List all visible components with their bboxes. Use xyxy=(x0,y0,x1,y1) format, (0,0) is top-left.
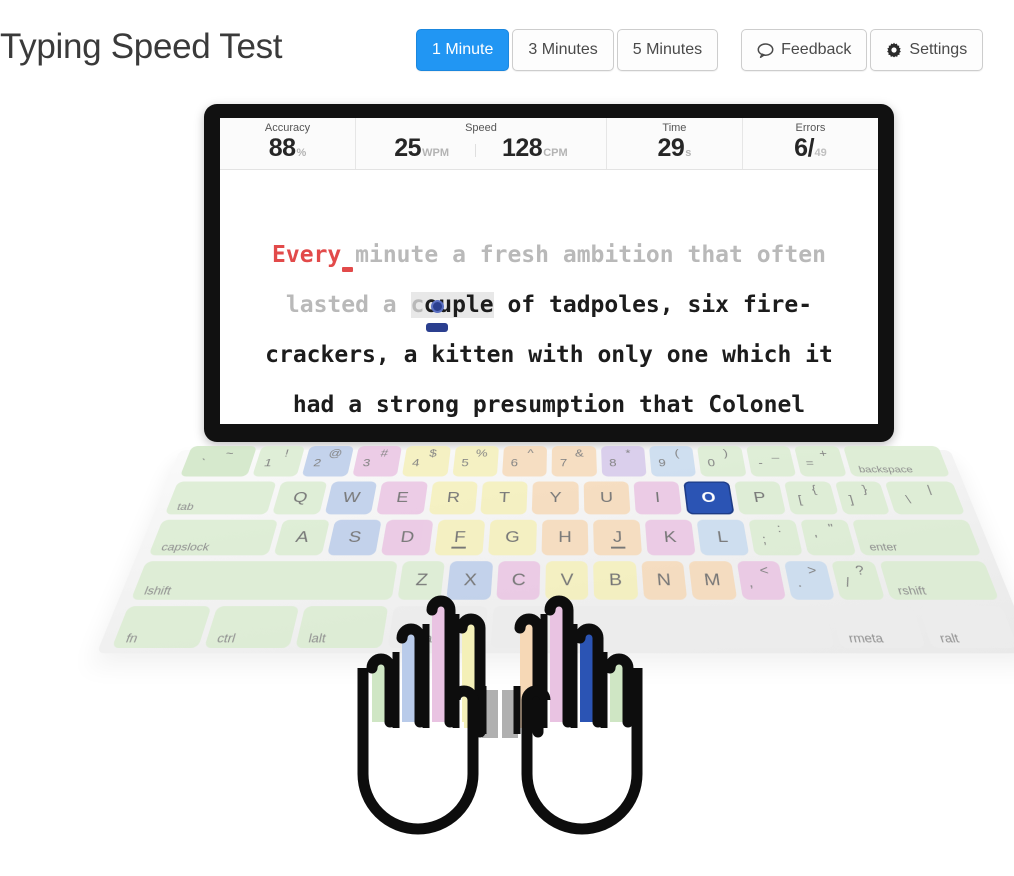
key-minus[interactable]: -_ xyxy=(746,446,797,476)
key-lshift-label: lshift xyxy=(142,585,173,597)
stat-accuracy-unit: % xyxy=(297,140,307,166)
key-0-primary: 0 xyxy=(707,457,716,469)
typing-line-2: lasted a couple of tadpoles, six fire- xyxy=(238,280,860,330)
stat-accuracy-values: 88 % xyxy=(269,135,307,166)
typed-error-word: Every xyxy=(272,242,341,268)
feedback-button[interactable]: Feedback xyxy=(741,29,867,71)
stats-bar: Accuracy 88 % Speed 25 WPM 128 CPM xyxy=(220,118,878,170)
key-E[interactable]: E xyxy=(376,481,427,514)
stat-accuracy: Accuracy 88 % xyxy=(220,118,356,169)
stat-errors-total: 49 xyxy=(815,140,827,166)
key-semicolon-primary: ; xyxy=(761,532,768,546)
key-fn-label: fn xyxy=(124,632,140,646)
key-P[interactable]: P xyxy=(734,481,786,514)
stat-time-value: 29 xyxy=(657,135,684,161)
key-F-home-marker xyxy=(452,547,467,549)
stat-speed-divider xyxy=(475,144,476,157)
key-7-primary: 7 xyxy=(560,457,567,469)
keyboard-row-number-row: `~1!2@3#4$5%6^7&8*9(0)-_=+backspace xyxy=(167,446,962,476)
key-2[interactable]: 2@ xyxy=(302,446,354,476)
duration-label-2: 3 Minutes xyxy=(528,41,597,59)
duration-button-5-minutes[interactable]: 5 Minutes xyxy=(617,29,718,71)
key-1-secondary: ! xyxy=(283,447,290,459)
key-Q-label: Q xyxy=(291,489,310,506)
stat-errors-values: 6 / 49 xyxy=(794,135,827,166)
key-0-secondary: ) xyxy=(722,447,728,459)
key-J[interactable]: J xyxy=(594,520,643,556)
key-quote[interactable]: '" xyxy=(800,520,856,556)
key-N[interactable]: N xyxy=(641,561,687,600)
stat-accuracy-label: Accuracy xyxy=(265,122,310,135)
key-2-primary: 2 xyxy=(312,457,322,469)
app-header: Typing Speed Test 1 Minute 3 Minutes 5 M… xyxy=(0,0,1014,86)
key-ralt[interactable]: ralt xyxy=(919,606,1014,648)
current-word: couple xyxy=(411,292,494,318)
typed-done-line2: lasted a xyxy=(286,292,411,318)
key-E-label: E xyxy=(395,489,410,506)
typing-text-area[interactable]: Every minute a fresh ambition that often… xyxy=(220,170,878,424)
key-3-secondary: # xyxy=(380,447,390,459)
key-T[interactable]: T xyxy=(480,481,528,514)
key-minus-primary: - xyxy=(757,457,764,469)
left-hand xyxy=(363,600,498,829)
key-S-label: S xyxy=(347,528,363,547)
key-equal-primary: = xyxy=(804,457,815,469)
key-enter[interactable]: enter xyxy=(852,520,982,556)
key-backslash-primary: \ xyxy=(904,493,912,506)
stat-time-unit: s xyxy=(685,140,691,166)
key-K[interactable]: K xyxy=(645,520,696,556)
key-A[interactable]: A xyxy=(274,520,330,556)
key-enter-label: enter xyxy=(868,542,899,553)
key-rbracket-primary: ] xyxy=(848,493,856,506)
duration-label-3: 5 Minutes xyxy=(633,41,702,59)
key-comma-primary: , xyxy=(747,575,754,590)
key-tab-label: tab xyxy=(175,502,195,513)
key-6-primary: 6 xyxy=(510,457,518,469)
key-W-label: W xyxy=(341,489,362,506)
stat-speed-cpm-unit: CPM xyxy=(543,140,567,166)
caret-dot-icon xyxy=(431,300,444,313)
gear-icon xyxy=(886,42,902,58)
key-equal-secondary: + xyxy=(818,447,829,459)
stat-time-values: 29 s xyxy=(657,135,691,166)
key-G[interactable]: G xyxy=(488,520,537,556)
key-J-label: J xyxy=(612,528,622,547)
key-6[interactable]: 6^ xyxy=(502,446,547,476)
key-slash-secondary: ? xyxy=(854,563,866,578)
key-rshift-label: rshift xyxy=(896,585,928,597)
header-controls: 1 Minute 3 Minutes 5 Minutes xyxy=(416,29,983,71)
key-R-label: R xyxy=(446,489,461,506)
stat-speed: Speed 25 WPM 128 CPM xyxy=(356,118,607,169)
key-quote-primary: ' xyxy=(814,532,820,546)
key-backtick-primary: ` xyxy=(198,457,207,469)
key-rmeta-label: rmeta xyxy=(847,632,884,646)
current-word-typed: c xyxy=(411,292,425,318)
key-U-label: U xyxy=(600,489,614,506)
key-J-home-marker xyxy=(611,547,626,549)
key-lbracket-primary: [ xyxy=(797,493,804,506)
laptop-screen: Accuracy 88 % Speed 25 WPM 128 CPM xyxy=(220,118,878,424)
key-F[interactable]: F xyxy=(434,520,485,556)
key-8-primary: 8 xyxy=(609,457,617,469)
stat-errors: Errors 6 / 49 xyxy=(743,118,878,169)
left-palm-fill xyxy=(372,722,464,818)
key-5[interactable]: 5% xyxy=(452,446,499,476)
stat-accuracy-value: 88 xyxy=(269,135,296,161)
key-5-primary: 5 xyxy=(461,457,470,469)
typed-done-line1: minute a fresh ambition that often xyxy=(355,242,826,268)
key-fn[interactable]: fn xyxy=(112,606,211,648)
key-lalt-label: lalt xyxy=(307,632,327,646)
key-period-secondary: > xyxy=(806,563,818,578)
key-equal[interactable]: =+ xyxy=(794,446,846,476)
key-D[interactable]: D xyxy=(381,520,433,556)
key-minus-secondary: _ xyxy=(769,447,779,459)
keyboard-row-home-row: capslockASDFGHJKL;:'"enter xyxy=(135,520,995,556)
key-ctrl-label: ctrl xyxy=(215,632,237,646)
key-3[interactable]: 3# xyxy=(352,446,402,476)
key-backtick[interactable]: `~ xyxy=(180,446,257,476)
key-backspace[interactable]: backspace xyxy=(843,446,951,476)
stat-speed-cpm-value: 128 xyxy=(502,135,542,161)
key-D-label: D xyxy=(399,528,415,547)
key-1[interactable]: 1! xyxy=(252,446,305,476)
key-7-secondary: & xyxy=(575,447,584,459)
key-ctrl[interactable]: ctrl xyxy=(204,606,300,648)
laptop-illustration: Accuracy 88 % Speed 25 WPM 128 CPM xyxy=(204,104,894,442)
key-4-secondary: $ xyxy=(429,447,438,459)
key-0[interactable]: 0) xyxy=(697,446,746,476)
key-period[interactable]: .> xyxy=(784,561,835,600)
key-9[interactable]: 9( xyxy=(649,446,697,476)
duration-button-group: 1 Minute 3 Minutes 5 Minutes xyxy=(416,29,721,71)
key-G-label: G xyxy=(505,528,520,547)
key-backslash-secondary: | xyxy=(925,483,933,496)
key-capslock-label: capslock xyxy=(160,542,212,553)
key-semicolon-secondary: : xyxy=(775,521,782,535)
key-rshift[interactable]: rshift xyxy=(879,561,999,600)
key-M-label: M xyxy=(703,570,722,590)
key-9-primary: 9 xyxy=(658,457,667,469)
key-quote-secondary: " xyxy=(827,521,836,535)
key-6-secondary: ^ xyxy=(527,447,534,459)
key-rmeta[interactable]: rmeta xyxy=(830,606,926,648)
key-rbracket[interactable]: ]} xyxy=(834,481,890,514)
key-I-label: I xyxy=(654,489,661,506)
typing-line-4: had a strong presumption that Colonel xyxy=(238,380,860,424)
key-semicolon[interactable]: ;: xyxy=(748,520,802,556)
key-F-label: F xyxy=(453,528,466,547)
key-slash-primary: / xyxy=(844,575,852,590)
key-Y[interactable]: Y xyxy=(532,481,579,514)
key-H[interactable]: H xyxy=(541,520,589,556)
key-I[interactable]: I xyxy=(634,481,683,514)
typing-test-app: Typing Speed Test 1 Minute 3 Minutes 5 M… xyxy=(0,0,1014,876)
key-S[interactable]: S xyxy=(327,520,381,556)
key-N-label: N xyxy=(656,570,672,590)
key-8[interactable]: 8* xyxy=(601,446,647,476)
key-K-label: K xyxy=(663,528,677,547)
key-Q[interactable]: Q xyxy=(273,481,328,514)
stat-speed-wpm-unit: WPM xyxy=(422,140,449,166)
key-5-secondary: % xyxy=(475,447,488,459)
typing-line2-remaining: of tadpoles, six fire- xyxy=(494,292,813,318)
caret-chip-icon xyxy=(426,323,448,332)
key-H-label: H xyxy=(558,528,572,547)
speech-bubble-icon xyxy=(757,43,774,58)
stat-errors-value: 6 xyxy=(794,135,807,161)
key-2-secondary: @ xyxy=(327,447,343,459)
duration-button-1-minute[interactable]: 1 Minute xyxy=(416,29,509,71)
typed-error-space xyxy=(341,230,355,280)
key-U[interactable]: U xyxy=(583,481,630,514)
key-P-label: P xyxy=(752,489,767,506)
key-O[interactable]: O xyxy=(684,481,735,514)
key-capslock[interactable]: capslock xyxy=(149,520,279,556)
key-A-label: A xyxy=(294,528,311,547)
key-O-label: O xyxy=(700,489,716,506)
key-tab[interactable]: tab xyxy=(165,481,277,514)
stat-time: Time 29 s xyxy=(607,118,743,169)
current-word-remaining: uple xyxy=(438,292,493,318)
feedback-label: Feedback xyxy=(781,41,851,59)
duration-button-3-minutes[interactable]: 3 Minutes xyxy=(512,29,613,71)
page-title: Typing Speed Test xyxy=(0,26,282,68)
key-comma[interactable]: ,< xyxy=(736,561,786,600)
key-period-primary: . xyxy=(796,575,803,590)
key-T-label: T xyxy=(498,489,510,506)
key-ralt-label: ralt xyxy=(938,632,961,646)
right-hand xyxy=(502,600,637,829)
key-1-primary: 1 xyxy=(263,457,274,469)
key-rbracket-secondary: } xyxy=(860,483,868,496)
stat-errors-label: Errors xyxy=(795,122,825,135)
key-9-secondary: ( xyxy=(674,447,680,459)
key-slash[interactable]: /? xyxy=(831,561,884,600)
key-comma-secondary: < xyxy=(758,563,769,578)
header-actions: Feedback Settings xyxy=(741,29,983,71)
key-W[interactable]: W xyxy=(324,481,377,514)
key-4-primary: 4 xyxy=(411,457,420,469)
key-Y-label: Y xyxy=(549,489,561,506)
key-backtick-secondary: ~ xyxy=(224,447,236,459)
typing-line-3: crackers, a kitten with only one which i… xyxy=(238,330,860,380)
stat-speed-values: 25 WPM 128 CPM xyxy=(394,135,567,166)
key-4[interactable]: 4$ xyxy=(402,446,451,476)
key-lbracket-secondary: { xyxy=(810,483,818,496)
key-8-secondary: * xyxy=(625,447,631,459)
settings-label: Settings xyxy=(909,41,967,59)
duration-label-1: 1 Minute xyxy=(432,41,493,59)
hands-illustration xyxy=(352,582,648,840)
stat-errors-slash: / xyxy=(808,135,815,161)
key-L-label: L xyxy=(716,528,729,547)
stat-speed-label: Speed xyxy=(465,122,497,135)
key-backslash[interactable]: \| xyxy=(885,481,966,514)
right-palm-fill xyxy=(536,722,628,818)
key-lbracket[interactable]: [{ xyxy=(784,481,838,514)
keyboard-row-top-row: tabQWERTYUIOP[{]}\| xyxy=(152,481,978,514)
stat-speed-wpm-value: 25 xyxy=(394,135,421,161)
stat-time-label: Time xyxy=(662,122,686,135)
settings-button[interactable]: Settings xyxy=(870,29,983,71)
key-3-primary: 3 xyxy=(362,457,372,469)
key-M[interactable]: M xyxy=(689,561,737,600)
key-backspace-label: backspace xyxy=(857,465,914,475)
key-R[interactable]: R xyxy=(428,481,477,514)
typing-line-1: Every minute a fresh ambition that often xyxy=(238,230,860,280)
key-7[interactable]: 7& xyxy=(552,446,597,476)
key-L[interactable]: L xyxy=(697,520,749,556)
